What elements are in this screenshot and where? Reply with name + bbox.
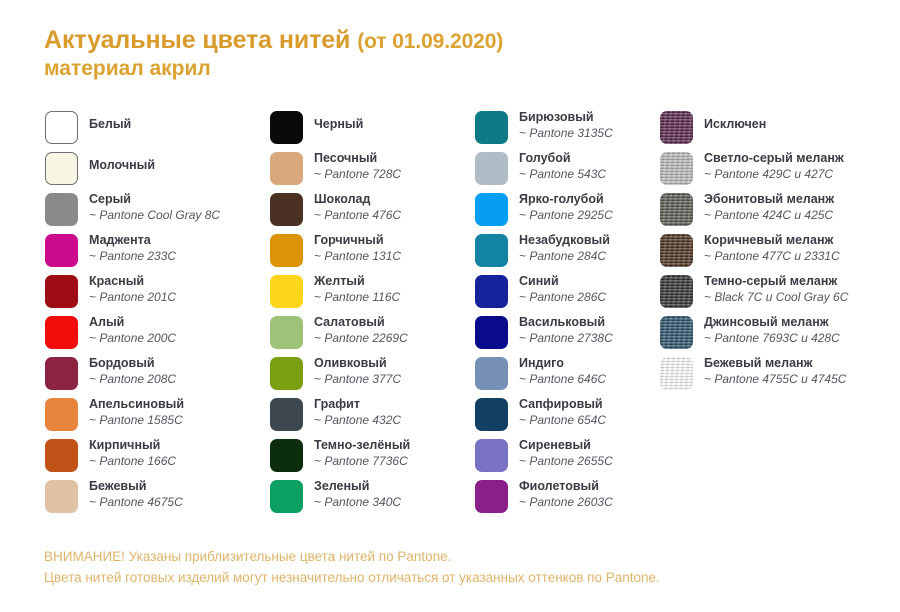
color-pantone-code: ~ Pantone 3135C <box>519 126 613 141</box>
color-swatch <box>660 316 693 349</box>
color-swatch <box>475 152 508 185</box>
color-pantone-code: ~ Pantone 424C и 425C <box>704 208 834 223</box>
color-labels: Зеленый~ Pantone 340C <box>314 479 401 510</box>
color-pantone-code: ~ Black 7C и Cool Gray 6C <box>704 290 848 305</box>
color-row: Графит~ Pantone 432C <box>270 397 465 438</box>
color-row: Коричневый меланж~ Pantone 477C и 2331C <box>660 233 895 274</box>
color-labels: Молочный <box>89 151 155 173</box>
color-row: Салатовый~ Pantone 2269C <box>270 315 465 356</box>
color-pantone-code: ~ Pantone 116C <box>314 290 400 305</box>
color-pantone-code: ~ Pantone 476C <box>314 208 401 223</box>
color-row: Алый~ Pantone 200C <box>45 315 260 356</box>
color-pantone-code: ~ Pantone 131C <box>314 249 401 264</box>
color-labels: Алый~ Pantone 200C <box>89 315 176 346</box>
color-swatch <box>475 275 508 308</box>
color-swatch <box>45 275 78 308</box>
color-row: Фиолетовый~ Pantone 2603C <box>475 479 650 520</box>
color-swatch <box>475 398 508 431</box>
color-swatch <box>475 357 508 390</box>
color-labels: Светло-серый меланж~ Pantone 429C и 427C <box>704 151 844 182</box>
color-pantone-code: ~ Pantone 7693C и 428C <box>704 331 840 346</box>
color-name: Красный <box>89 274 176 289</box>
color-pantone-code: ~ Pantone 2655C <box>519 454 613 469</box>
color-row: Индиго~ Pantone 646C <box>475 356 650 397</box>
color-name: Коричневый меланж <box>704 233 840 248</box>
color-name: Бирюзовый <box>519 110 613 125</box>
color-pantone-code: ~ Pantone 477C и 2331C <box>704 249 840 264</box>
color-labels: Бежевый~ Pantone 4675C <box>89 479 183 510</box>
color-swatch <box>475 111 508 144</box>
color-swatch <box>270 439 303 472</box>
color-row: Желтый~ Pantone 116C <box>270 274 465 315</box>
color-row: Темно-серый меланж~ Black 7C и Cool Gray… <box>660 274 895 315</box>
color-name: Джинсовый меланж <box>704 315 840 330</box>
color-swatch <box>45 439 78 472</box>
color-row: Сапфировый~ Pantone 654C <box>475 397 650 438</box>
color-swatch <box>270 275 303 308</box>
color-pantone-code: ~ Pantone 377C <box>314 372 401 387</box>
color-row: Кирпичный~ Pantone 166C <box>45 438 260 479</box>
color-pantone-code: ~ Pantone 728C <box>314 167 401 182</box>
color-row: Темно-зелёный~ Pantone 7736C <box>270 438 465 479</box>
color-pantone-code: ~ Pantone 543C <box>519 167 606 182</box>
color-name: Темно-зелёный <box>314 438 410 453</box>
color-swatch <box>660 152 693 185</box>
color-row: Бордовый~ Pantone 208C <box>45 356 260 397</box>
color-swatch <box>45 111 78 144</box>
color-row: Серый~ Pantone Cool Gray 8C <box>45 192 260 233</box>
header: Актуальные цвета нитей (от 01.09.2020) м… <box>44 26 864 82</box>
color-swatch <box>660 111 693 144</box>
color-swatch <box>45 234 78 267</box>
color-name: Светло-серый меланж <box>704 151 844 166</box>
color-labels: Индиго~ Pantone 646C <box>519 356 606 387</box>
color-swatch <box>45 398 78 431</box>
color-row: Джинсовый меланж~ Pantone 7693C и 428C <box>660 315 895 356</box>
color-labels: Исключен <box>704 110 766 132</box>
color-swatch <box>660 234 693 267</box>
color-pantone-code: ~ Pantone 646C <box>519 372 606 387</box>
color-labels: Незабудковый~ Pantone 284C <box>519 233 610 264</box>
color-name: Кирпичный <box>89 438 176 453</box>
color-column-2: ЧерныйПесочный~ Pantone 728CШоколад~ Pan… <box>270 110 465 520</box>
color-pantone-code: ~ Pantone 2269C <box>314 331 408 346</box>
color-swatch <box>475 439 508 472</box>
color-labels: Бордовый~ Pantone 208C <box>89 356 176 387</box>
color-row: Васильковый~ Pantone 2738C <box>475 315 650 356</box>
page-subtitle: материал акрил <box>44 56 864 82</box>
color-swatch <box>475 480 508 513</box>
title-date-text: (от 01.09.2020) <box>357 30 503 53</box>
color-pantone-code: ~ Pantone 166C <box>89 454 176 469</box>
color-column-1: БелыйМолочныйСерый~ Pantone Cool Gray 8C… <box>45 110 260 520</box>
color-labels: Коричневый меланж~ Pantone 477C и 2331C <box>704 233 840 264</box>
color-pantone-code: ~ Pantone 2603C <box>519 495 613 510</box>
color-row: Песочный~ Pantone 728C <box>270 151 465 192</box>
color-labels: Красный~ Pantone 201C <box>89 274 176 305</box>
color-row: Апельсиновый~ Pantone 1585C <box>45 397 260 438</box>
color-name: Сиреневый <box>519 438 613 453</box>
color-row: Зеленый~ Pantone 340C <box>270 479 465 520</box>
color-pantone-code: ~ Pantone 1585C <box>89 413 184 428</box>
color-labels: Сапфировый~ Pantone 654C <box>519 397 606 428</box>
color-row: Горчичный~ Pantone 131C <box>270 233 465 274</box>
color-chart-page: Актуальные цвета нитей (от 01.09.2020) м… <box>0 0 900 612</box>
color-labels: Апельсиновый~ Pantone 1585C <box>89 397 184 428</box>
color-name: Голубой <box>519 151 606 166</box>
color-name: Графит <box>314 397 401 412</box>
color-pantone-code: ~ Pantone 201C <box>89 290 176 305</box>
color-pantone-code: ~ Pantone 208C <box>89 372 176 387</box>
color-row: Голубой~ Pantone 543C <box>475 151 650 192</box>
color-row: Сиреневый~ Pantone 2655C <box>475 438 650 479</box>
color-name: Сапфировый <box>519 397 606 412</box>
color-name: Зеленый <box>314 479 401 494</box>
color-row: Исключен <box>660 110 895 151</box>
color-labels: Салатовый~ Pantone 2269C <box>314 315 408 346</box>
color-name: Бежевый меланж <box>704 356 846 371</box>
color-row: Белый <box>45 110 260 151</box>
color-labels: Черный <box>314 110 363 132</box>
color-labels: Графит~ Pantone 432C <box>314 397 401 428</box>
color-labels: Джинсовый меланж~ Pantone 7693C и 428C <box>704 315 840 346</box>
color-swatch <box>45 357 78 390</box>
footer-line-1: ВНИМАНИЕ! Указаны приблизительные цвета … <box>44 546 874 567</box>
color-labels: Сиреневый~ Pantone 2655C <box>519 438 613 469</box>
color-pantone-code: ~ Pantone 2925C <box>519 208 613 223</box>
color-labels: Фиолетовый~ Pantone 2603C <box>519 479 613 510</box>
color-row: Бежевый~ Pantone 4675C <box>45 479 260 520</box>
color-name: Черный <box>314 117 363 132</box>
title-main-text: Актуальные цвета нитей <box>44 26 350 54</box>
color-name: Оливковый <box>314 356 401 371</box>
footer-line-2: Цвета нитей готовых изделий могут незнач… <box>44 567 874 588</box>
color-labels: Бирюзовый~ Pantone 3135C <box>519 110 613 141</box>
color-row: Бежевый меланж~ Pantone 4755C и 4745C <box>660 356 895 397</box>
color-labels: Бежевый меланж~ Pantone 4755C и 4745C <box>704 356 846 387</box>
color-pantone-code: ~ Pantone 7736C <box>314 454 410 469</box>
color-swatch <box>270 480 303 513</box>
color-swatch <box>660 357 693 390</box>
color-pantone-code: ~ Pantone 340C <box>314 495 401 510</box>
footer-notice: ВНИМАНИЕ! Указаны приблизительные цвета … <box>44 546 874 588</box>
color-swatch <box>475 234 508 267</box>
color-labels: Серый~ Pantone Cool Gray 8C <box>89 192 220 223</box>
color-row: Шоколад~ Pantone 476C <box>270 192 465 233</box>
color-swatch <box>45 316 78 349</box>
page-title: Актуальные цвета нитей (от 01.09.2020) <box>44 26 864 54</box>
color-labels: Темно-серый меланж~ Black 7C и Cool Gray… <box>704 274 848 305</box>
color-name: Бежевый <box>89 479 183 494</box>
color-swatch <box>270 398 303 431</box>
color-row: Оливковый~ Pantone 377C <box>270 356 465 397</box>
color-row: Эбонитовый меланж~ Pantone 424C и 425C <box>660 192 895 233</box>
color-pantone-code: ~ Pantone 654C <box>519 413 606 428</box>
color-name: Исключен <box>704 117 766 132</box>
color-row: Черный <box>270 110 465 151</box>
color-pantone-code: ~ Pantone 2738C <box>519 331 613 346</box>
color-swatch <box>270 152 303 185</box>
color-swatch <box>475 316 508 349</box>
color-name: Ярко-голубой <box>519 192 613 207</box>
color-row: Молочный <box>45 151 260 192</box>
color-grid: БелыйМолочныйСерый~ Pantone Cool Gray 8C… <box>0 110 900 530</box>
color-name: Эбонитовый меланж <box>704 192 834 207</box>
color-name: Васильковый <box>519 315 613 330</box>
color-labels: Горчичный~ Pantone 131C <box>314 233 401 264</box>
color-labels: Голубой~ Pantone 543C <box>519 151 606 182</box>
color-name: Шоколад <box>314 192 401 207</box>
color-name: Салатовый <box>314 315 408 330</box>
color-name: Молочный <box>89 158 155 173</box>
color-swatch <box>270 234 303 267</box>
color-swatch <box>660 275 693 308</box>
color-swatch <box>660 193 693 226</box>
color-name: Незабудковый <box>519 233 610 248</box>
color-row: Светло-серый меланж~ Pantone 429C и 427C <box>660 151 895 192</box>
color-name: Серый <box>89 192 220 207</box>
color-labels: Белый <box>89 110 131 132</box>
color-name: Апельсиновый <box>89 397 184 412</box>
color-row: Синий~ Pantone 286C <box>475 274 650 315</box>
color-swatch <box>270 193 303 226</box>
color-column-4: ИсключенСветло-серый меланж~ Pantone 429… <box>660 110 895 397</box>
color-name: Песочный <box>314 151 401 166</box>
color-row: Маджента~ Pantone 233C <box>45 233 260 274</box>
color-pantone-code: ~ Pantone 284C <box>519 249 610 264</box>
color-labels: Ярко-голубой~ Pantone 2925C <box>519 192 613 223</box>
color-name: Индиго <box>519 356 606 371</box>
color-swatch <box>475 193 508 226</box>
color-row: Красный~ Pantone 201C <box>45 274 260 315</box>
color-name: Бордовый <box>89 356 176 371</box>
color-name: Темно-серый меланж <box>704 274 848 289</box>
color-swatch <box>270 357 303 390</box>
color-labels: Маджента~ Pantone 233C <box>89 233 176 264</box>
color-pantone-code: ~ Pantone 4755C и 4745C <box>704 372 846 387</box>
color-labels: Темно-зелёный~ Pantone 7736C <box>314 438 410 469</box>
color-labels: Желтый~ Pantone 116C <box>314 274 400 305</box>
color-labels: Васильковый~ Pantone 2738C <box>519 315 613 346</box>
color-labels: Оливковый~ Pantone 377C <box>314 356 401 387</box>
color-name: Маджента <box>89 233 176 248</box>
color-swatch <box>45 193 78 226</box>
color-name: Желтый <box>314 274 400 289</box>
color-labels: Синий~ Pantone 286C <box>519 274 606 305</box>
color-pantone-code: ~ Pantone Cool Gray 8C <box>89 208 220 223</box>
color-row: Бирюзовый~ Pantone 3135C <box>475 110 650 151</box>
color-pantone-code: ~ Pantone 4675C <box>89 495 183 510</box>
color-name: Фиолетовый <box>519 479 613 494</box>
color-pantone-code: ~ Pantone 429C и 427C <box>704 167 844 182</box>
color-row: Незабудковый~ Pantone 284C <box>475 233 650 274</box>
color-labels: Кирпичный~ Pantone 166C <box>89 438 176 469</box>
color-pantone-code: ~ Pantone 286C <box>519 290 606 305</box>
color-name: Белый <box>89 117 131 132</box>
color-name: Синий <box>519 274 606 289</box>
color-labels: Песочный~ Pantone 728C <box>314 151 401 182</box>
color-pantone-code: ~ Pantone 200C <box>89 331 176 346</box>
color-swatch <box>270 111 303 144</box>
color-row: Ярко-голубой~ Pantone 2925C <box>475 192 650 233</box>
color-swatch <box>270 316 303 349</box>
color-swatch <box>45 152 78 185</box>
color-name: Горчичный <box>314 233 401 248</box>
color-labels: Шоколад~ Pantone 476C <box>314 192 401 223</box>
color-labels: Эбонитовый меланж~ Pantone 424C и 425C <box>704 192 834 223</box>
color-name: Алый <box>89 315 176 330</box>
color-swatch <box>45 480 78 513</box>
color-pantone-code: ~ Pantone 233C <box>89 249 176 264</box>
color-pantone-code: ~ Pantone 432C <box>314 413 401 428</box>
color-column-3: Бирюзовый~ Pantone 3135CГолубой~ Pantone… <box>475 110 650 520</box>
